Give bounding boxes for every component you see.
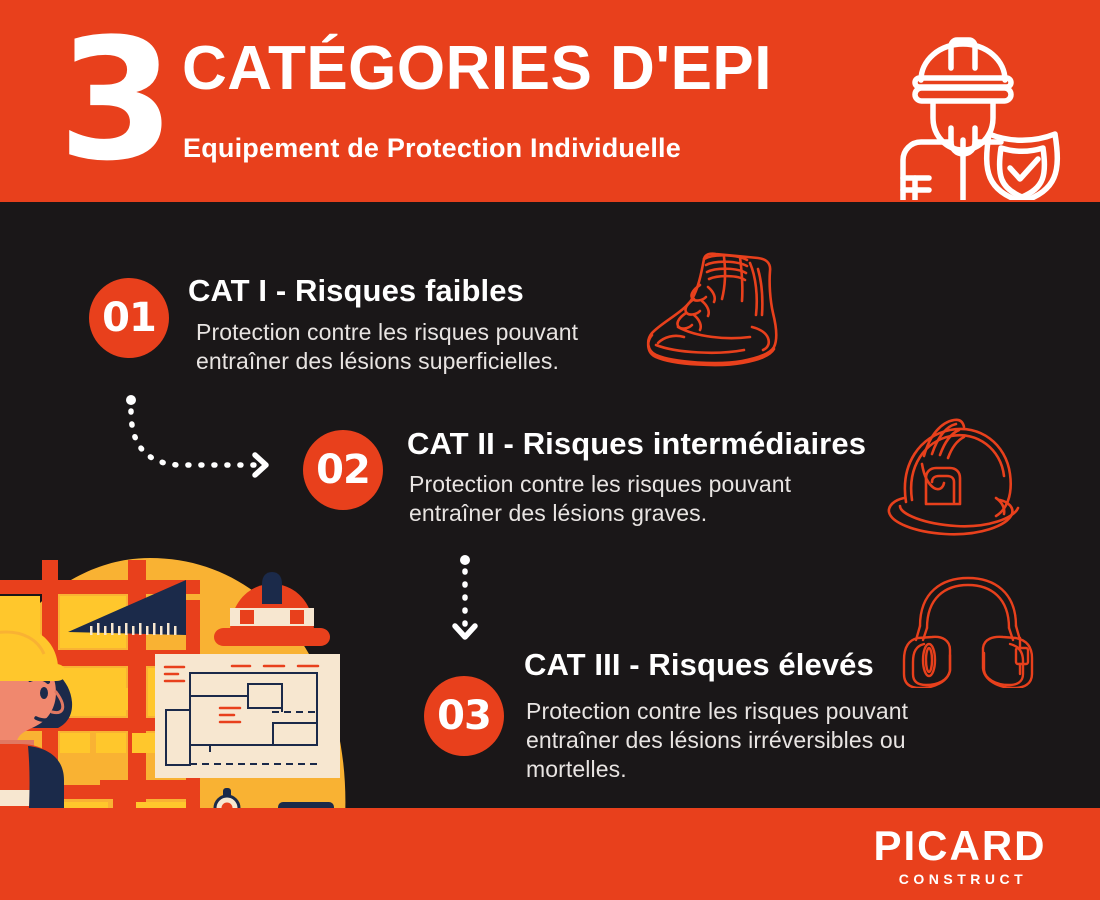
logo-primary-text: PICARD [873,826,1046,869]
illu-blueprint-board [155,654,340,778]
picard-construct-logo: PICARD CONSTRUCT [853,826,1068,892]
category-badge-02: 02 [303,430,383,510]
infographic-poster: 3 CATÉGORIES D'EPI Equipement de Protect… [0,0,1100,900]
header-big-number: 3 [58,16,171,184]
worker-shield-icon [893,28,1073,200]
ear-defenders-icon [898,576,1038,688]
vertical-dotted-arrow-icon [432,545,522,655]
category-description-02: Protection contre les risques pouvant en… [409,470,869,528]
category-description-01: Protection contre les risques pouvant en… [196,318,656,376]
header-banner: 3 CATÉGORIES D'EPI Equipement de Protect… [0,0,1100,202]
category-title-02: CAT II - Risques intermédiaires [407,426,866,462]
page-title: CATÉGORIES D'EPI [182,36,772,102]
hard-hat-icon [878,414,1030,536]
category-description-03: Protection contre les risques pouvant en… [526,697,976,784]
curved-dotted-arrow-icon [100,385,310,495]
category-title-01: CAT I - Risques faibles [188,273,524,309]
logo-secondary-text: CONSTRUCT [899,871,1027,887]
page-subtitle: Equipement de Protection Individuelle [183,132,681,164]
category-badge-03: 03 [424,676,504,756]
category-badge-01: 01 [89,278,169,358]
safety-boot-icon [640,243,792,377]
category-title-03: CAT III - Risques élevés [524,647,874,683]
